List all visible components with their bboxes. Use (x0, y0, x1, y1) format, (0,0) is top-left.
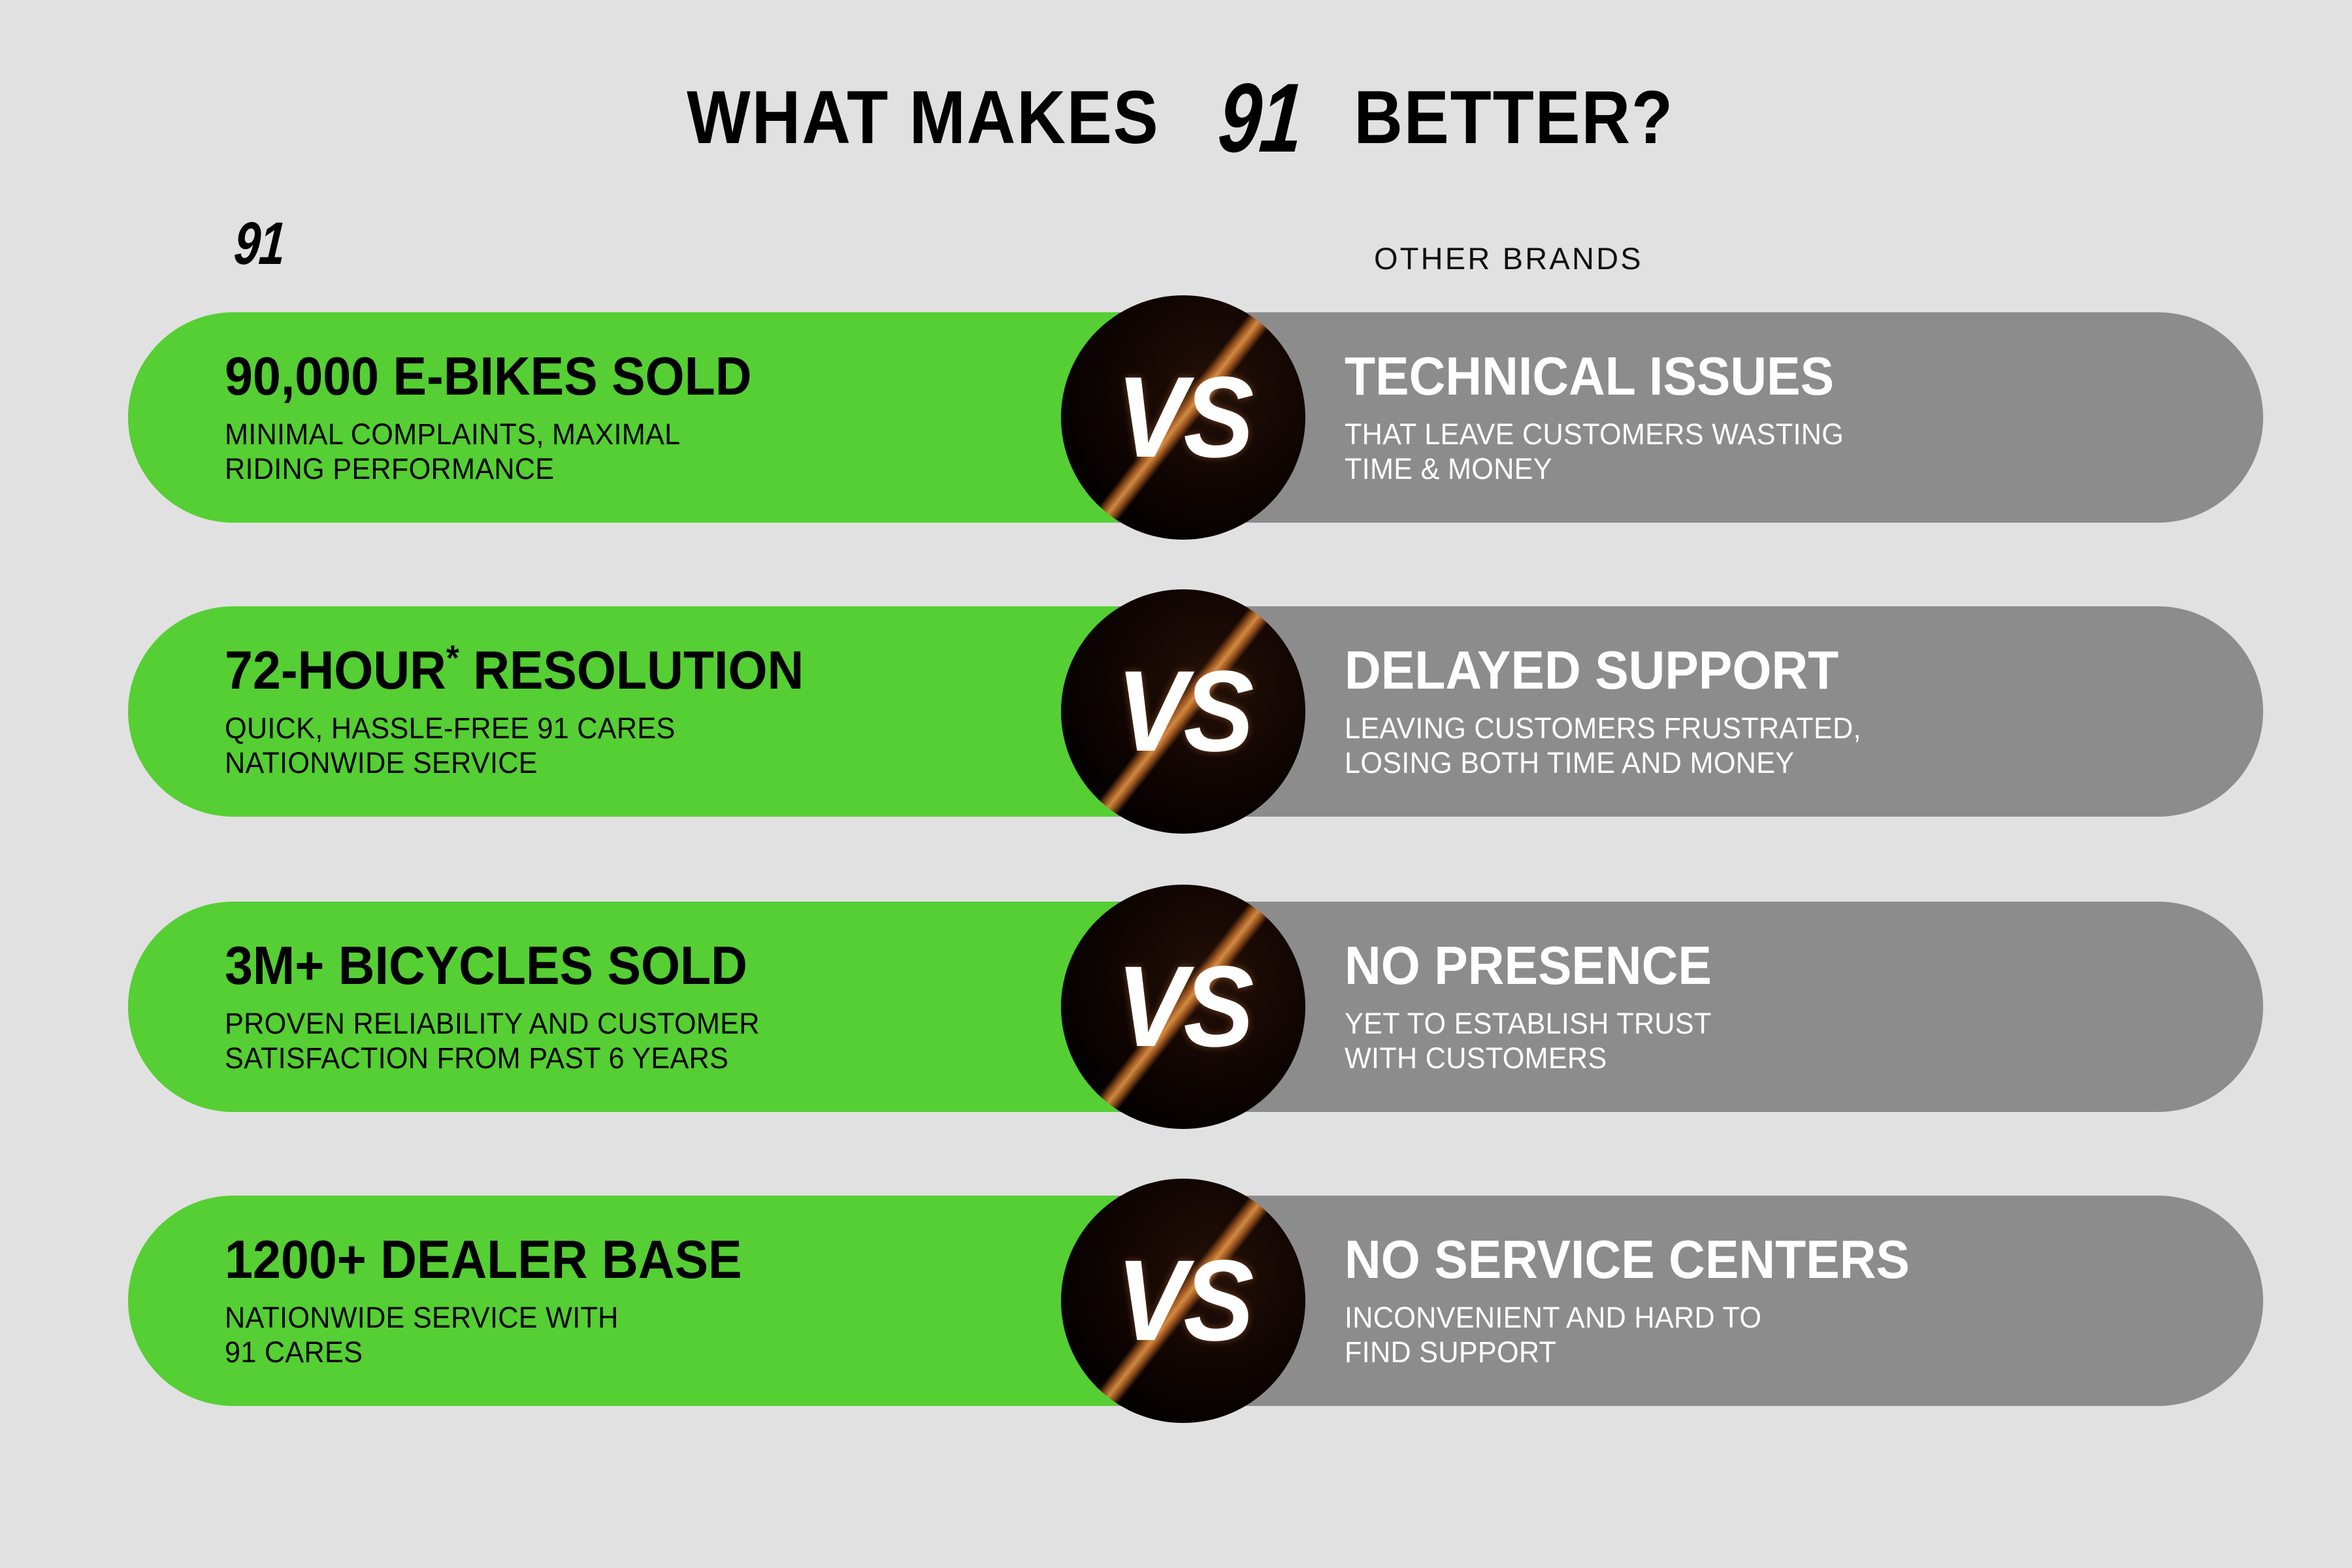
brand-side-content: 72-HOUR* RESOLUTION QUICK, HASSLE-FREE 9… (225, 606, 1041, 817)
brand-headline: 1200+ DEALER BASE (225, 1232, 985, 1286)
other-subline-2: TIME & MONEY (1345, 452, 2223, 487)
comparison-row: 1200+ DEALER BASE NATIONWIDE SERVICE WIT… (128, 1196, 2263, 1406)
column-header-other-brands: OTHER BRANDS (1374, 240, 1643, 276)
brand-logo-91-title: 91 (1215, 69, 1306, 167)
brand-subline-2: SATISFACTION FROM PAST 6 YEARS (225, 1041, 1009, 1076)
brand-headline: 90,000 E-BIKES SOLD (225, 349, 985, 403)
other-subline-1: INCONVENIENT AND HARD TO (1345, 1301, 2223, 1335)
brand-subline-1: MINIMAL COMPLAINTS, MAXIMAL (225, 417, 1009, 452)
brand-subline-2: RIDING PERFORMANCE (225, 452, 1009, 487)
comparison-row: 72-HOUR* RESOLUTION QUICK, HASSLE-FREE 9… (128, 606, 2263, 817)
vs-label: VS (1117, 360, 1250, 475)
vs-label: VS (1117, 949, 1250, 1064)
vs-label: VS (1117, 1243, 1250, 1358)
brand-subline-1: PROVEN RELIABILITY AND CUSTOMER (225, 1007, 1009, 1041)
brand-subline-2: NATIONWIDE SERVICE (225, 746, 1009, 781)
other-brands-side-content: NO PRESENCE YET TO ESTABLISH TRUST WITH … (1345, 902, 2259, 1112)
brand-logo-91-column: 91 (232, 214, 287, 274)
other-brands-side-content: NO SERVICE CENTERS INCONVENIENT AND HARD… (1345, 1196, 2259, 1406)
comparison-row: 3M+ BICYCLES SOLD PROVEN RELIABILITY AND… (128, 902, 2263, 1112)
other-headline: NO SERVICE CENTERS (1345, 1232, 2195, 1286)
other-headline: TECHNICAL ISSUES (1345, 349, 2195, 403)
title-suffix: BETTER? (1354, 80, 1674, 155)
vs-badge-icon: VS (1061, 295, 1305, 540)
brand-side-content: 1200+ DEALER BASE NATIONWIDE SERVICE WIT… (225, 1196, 1041, 1406)
brand-subline-2: 91 CARES (225, 1335, 1009, 1370)
other-headline: DELAYED SUPPORT (1345, 643, 2195, 697)
vs-label: VS (1117, 654, 1250, 769)
vs-badge-icon: VS (1061, 589, 1305, 834)
other-subline-1: THAT LEAVE CUSTOMERS WASTING (1345, 417, 2223, 452)
brand-side-content: 90,000 E-BIKES SOLD MINIMAL COMPLAINTS, … (225, 312, 1041, 523)
brand-headline-tail: RESOLUTION (459, 640, 804, 700)
other-subline-1: YET TO ESTABLISH TRUST (1345, 1007, 2223, 1041)
other-subline-1: LEAVING CUSTOMERS FRUSTRATED, (1345, 711, 2223, 746)
brand-headline: 72-HOUR* RESOLUTION (225, 643, 985, 697)
title-prefix: WHAT MAKES (687, 80, 1159, 155)
other-subline-2: LOSING BOTH TIME AND MONEY (1345, 746, 2223, 781)
brand-headline-main: 72-HOUR (225, 640, 446, 700)
brand-subline-1: NATIONWIDE SERVICE WITH (225, 1301, 1009, 1335)
other-brands-side-content: DELAYED SUPPORT LEAVING CUSTOMERS FRUSTR… (1345, 606, 2259, 817)
other-brands-side-content: TECHNICAL ISSUES THAT LEAVE CUSTOMERS WA… (1345, 312, 2259, 523)
brand-subline-1: QUICK, HASSLE-FREE 91 CARES (225, 711, 1009, 746)
other-subline-2: WITH CUSTOMERS (1345, 1041, 2223, 1076)
vs-badge-icon: VS (1061, 885, 1305, 1129)
asterisk-marker: * (446, 637, 459, 678)
vs-badge-icon: VS (1061, 1179, 1305, 1423)
column-header-brand: 91 (227, 208, 291, 280)
brand-headline: 3M+ BICYCLES SOLD (225, 938, 985, 992)
other-subline-2: FIND SUPPORT (1345, 1335, 2223, 1370)
other-headline: NO PRESENCE (1345, 938, 2195, 992)
brand-side-content: 3M+ BICYCLES SOLD PROVEN RELIABILITY AND… (225, 902, 1041, 1112)
page-title: WHAT MAKES 91 BETTER? (0, 62, 2352, 173)
comparison-row: 90,000 E-BIKES SOLD MINIMAL COMPLAINTS, … (128, 312, 2263, 523)
